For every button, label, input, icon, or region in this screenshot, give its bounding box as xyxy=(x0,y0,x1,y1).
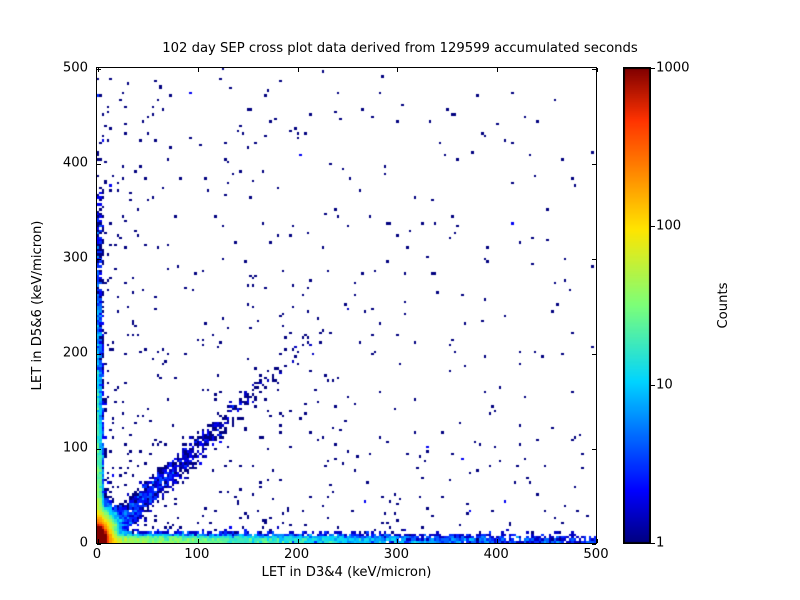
figure-canvas: 102 day SEP cross plot data derived from… xyxy=(0,0,800,600)
colorbar-ticklabel-1000: 1000 xyxy=(656,61,690,76)
x-tick-400 xyxy=(497,539,498,543)
x-ticklabel-100: 100 xyxy=(184,547,209,562)
y-tick-500 xyxy=(592,69,596,70)
y-tick-500 xyxy=(97,69,101,70)
x-ticklabel-0: 0 xyxy=(93,547,101,562)
x-tick-300 xyxy=(397,539,398,543)
x-ticklabel-400: 400 xyxy=(484,547,509,562)
x-ticklabel-200: 200 xyxy=(284,547,309,562)
x-tick-100 xyxy=(198,68,199,72)
y-ticklabel-100: 100 xyxy=(63,441,88,456)
y-tick-400 xyxy=(592,164,596,165)
y-ticklabel-0: 0 xyxy=(80,536,88,551)
y-tick-300 xyxy=(592,259,596,260)
y-tick-100 xyxy=(97,449,101,450)
colorbar-label: Counts xyxy=(716,67,731,544)
colorbar-gradient xyxy=(623,67,651,544)
y-tick-400 xyxy=(97,164,101,165)
y-ticklabel-300: 300 xyxy=(63,251,88,266)
x-axis-label: LET in D3&4 (keV/micron) xyxy=(96,565,597,580)
colorbar-tick-10 xyxy=(650,385,655,386)
x-tick-500 xyxy=(597,68,598,72)
colorbar-tick-1 xyxy=(650,543,655,544)
y-ticklabel-500: 500 xyxy=(63,61,88,76)
y-tick-0 xyxy=(97,544,101,545)
y-tick-200 xyxy=(592,354,596,355)
scatter-density-layer xyxy=(97,68,596,543)
y-tick-0 xyxy=(592,544,596,545)
y-tick-300 xyxy=(97,259,101,260)
colorbar-ticklabel-10: 10 xyxy=(656,378,673,393)
y-tick-100 xyxy=(592,449,596,450)
plot-title-line-1: 102 day SEP cross plot data derived from… xyxy=(0,40,800,57)
x-ticklabel-300: 300 xyxy=(384,547,409,562)
y-axis-label: LET in D5&6 (keV/micron) xyxy=(30,67,45,544)
x-tick-200 xyxy=(298,68,299,72)
y-ticklabel-200: 200 xyxy=(63,346,88,361)
x-tick-400 xyxy=(497,68,498,72)
x-tick-0 xyxy=(98,539,99,543)
colorbar-tick-1000 xyxy=(650,68,655,69)
y-tick-200 xyxy=(97,354,101,355)
x-tick-100 xyxy=(198,539,199,543)
colorbar-ticklabel-100: 100 xyxy=(656,219,681,234)
plot-axes-frame xyxy=(96,67,597,544)
x-tick-200 xyxy=(298,539,299,543)
y-ticklabel-400: 400 xyxy=(63,156,88,171)
colorbar xyxy=(623,67,651,544)
x-ticklabel-500: 500 xyxy=(583,547,608,562)
colorbar-ticklabel-1: 1 xyxy=(656,536,664,551)
colorbar-tick-100 xyxy=(650,226,655,227)
x-tick-300 xyxy=(397,68,398,72)
x-tick-500 xyxy=(597,539,598,543)
